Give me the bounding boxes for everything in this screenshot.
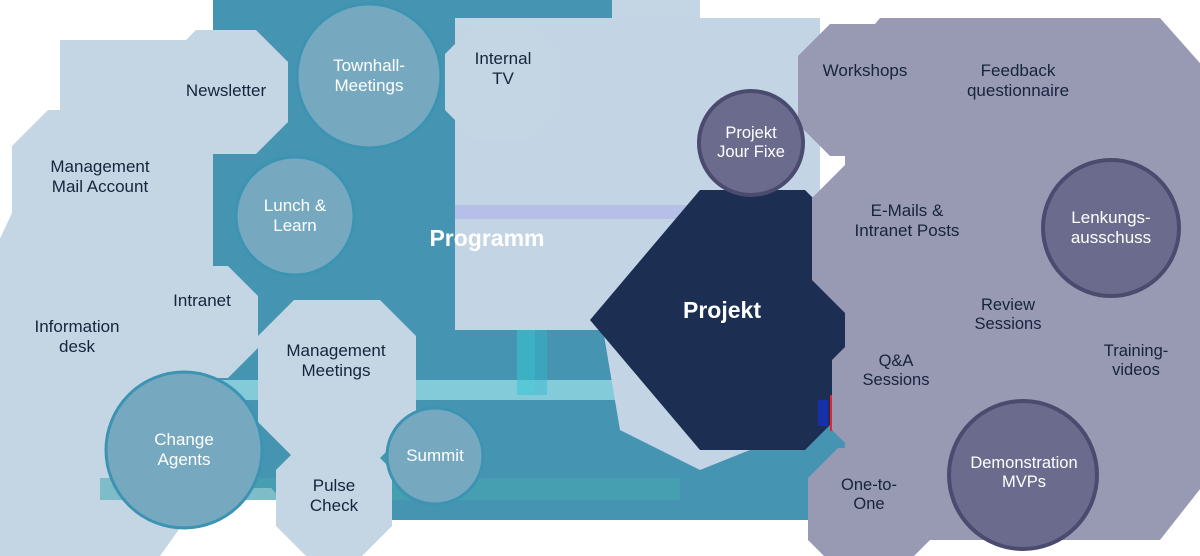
demonstration-mvps-shape[interactable]	[949, 401, 1097, 549]
management-mail-account-shape[interactable]	[12, 110, 188, 286]
change-agents-shape[interactable]	[106, 372, 262, 528]
workshops-shape[interactable]	[798, 24, 932, 156]
lenkungsausschuss-shape[interactable]	[1043, 160, 1179, 296]
newsletter-shape[interactable]	[164, 30, 288, 154]
internal-tv-shape[interactable]	[445, 24, 560, 140]
intranet-shape[interactable]	[146, 266, 258, 378]
projekt-jour-fixe-shape[interactable]	[699, 91, 803, 195]
one-to-one-shape[interactable]	[808, 448, 930, 556]
townhall-meetings-shape[interactable]	[297, 4, 441, 148]
summit-shape[interactable]	[387, 408, 483, 504]
lunch-and-learn-shape[interactable]	[236, 157, 354, 275]
communication-channels-diagram: Programm Projekt Management Mail Account…	[0, 0, 1200, 556]
pulse-check-shape[interactable]	[276, 440, 392, 556]
training-videos-shape[interactable]	[1066, 312, 1200, 442]
qa-sessions-shape[interactable]	[832, 330, 966, 460]
feedback-questionnaire-shape[interactable]	[934, 22, 1102, 168]
node-shapes-layer	[0, 0, 1200, 556]
